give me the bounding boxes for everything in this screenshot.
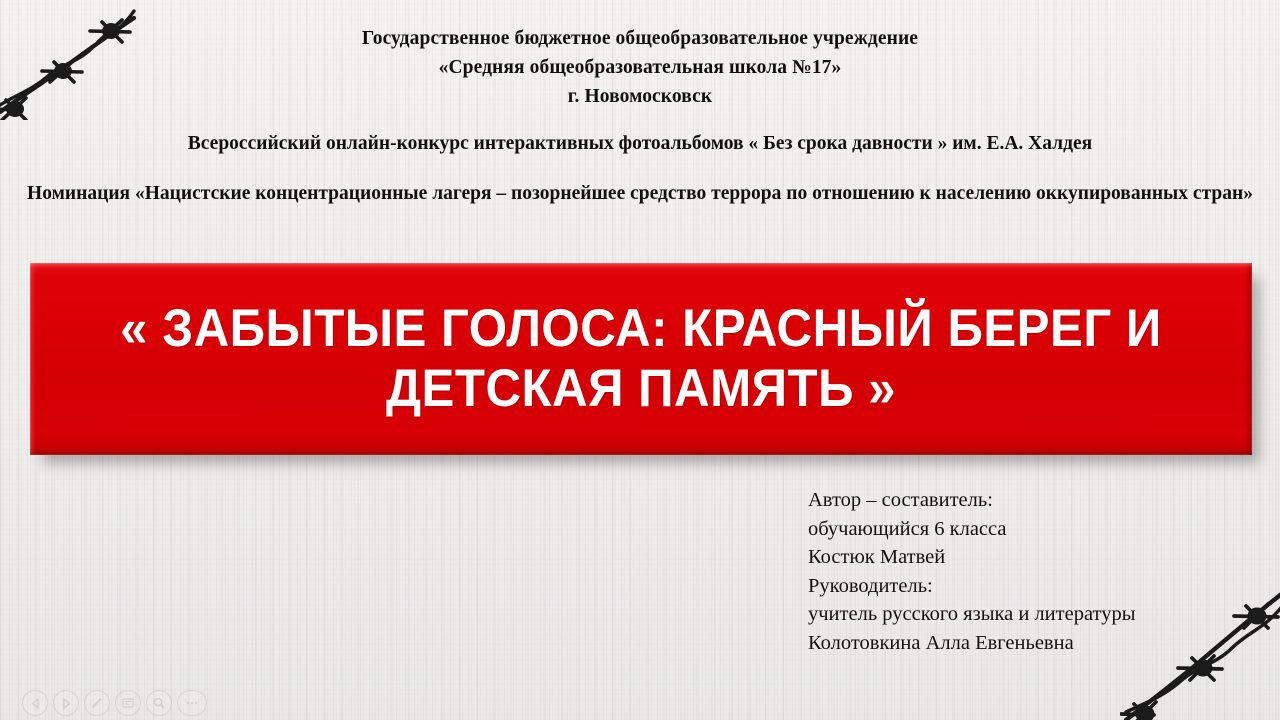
next-slide-button[interactable]: [53, 690, 79, 716]
organisation-line-1: Государственное бюджетное общеобразовате…: [0, 24, 1280, 53]
ellipsis-icon: [184, 699, 200, 707]
organisation-header: Государственное бюджетное общеобразовате…: [0, 24, 1280, 111]
play-icon: [60, 697, 73, 710]
pen-icon: [90, 696, 104, 710]
slide-title: « ЗАБЫТЫЕ ГОЛОСА: КРАСНЫЙ БЕРЕГ И ДЕТСКА…: [73, 299, 1209, 419]
author-line-1: Автор – составитель:: [808, 486, 1238, 515]
slideshow-icon: [121, 696, 135, 710]
previous-icon: [29, 697, 42, 710]
title-banner: « ЗАБЫТЫЕ ГОЛОСА: КРАСНЫЙ БЕРЕГ И ДЕТСКА…: [30, 263, 1252, 455]
author-line-4: Руководитель:: [808, 572, 1238, 601]
slide-view-button[interactable]: [115, 690, 141, 716]
more-options-button[interactable]: [177, 690, 207, 716]
previous-slide-button[interactable]: [22, 690, 48, 716]
magnifier-icon: [152, 696, 166, 710]
author-block: Автор – составитель: обучающийся 6 класс…: [808, 486, 1238, 657]
organisation-line-3: г. Новомосковск: [0, 82, 1280, 111]
zoom-button[interactable]: [146, 690, 172, 716]
author-line-2: обучающийся 6 класса: [808, 515, 1238, 544]
presentation-slide: Государственное бюджетное общеобразовате…: [0, 0, 1280, 720]
author-line-6: Колотовкина Алла Евгеньевна: [808, 629, 1238, 658]
viewer-toolbar[interactable]: [22, 690, 207, 716]
organisation-line-2: «Средняя общеобразовательная школа №17»: [0, 53, 1280, 82]
nomination-line: Номинация «Нацистские концентрационные л…: [26, 178, 1254, 210]
contest-line: Всероссийский онлайн-конкурс интерактивн…: [0, 131, 1280, 157]
author-line-5: учитель русского языка и литературы: [808, 600, 1238, 629]
author-line-3: Костюк Матвей: [808, 543, 1238, 572]
pen-tool-button[interactable]: [84, 690, 110, 716]
